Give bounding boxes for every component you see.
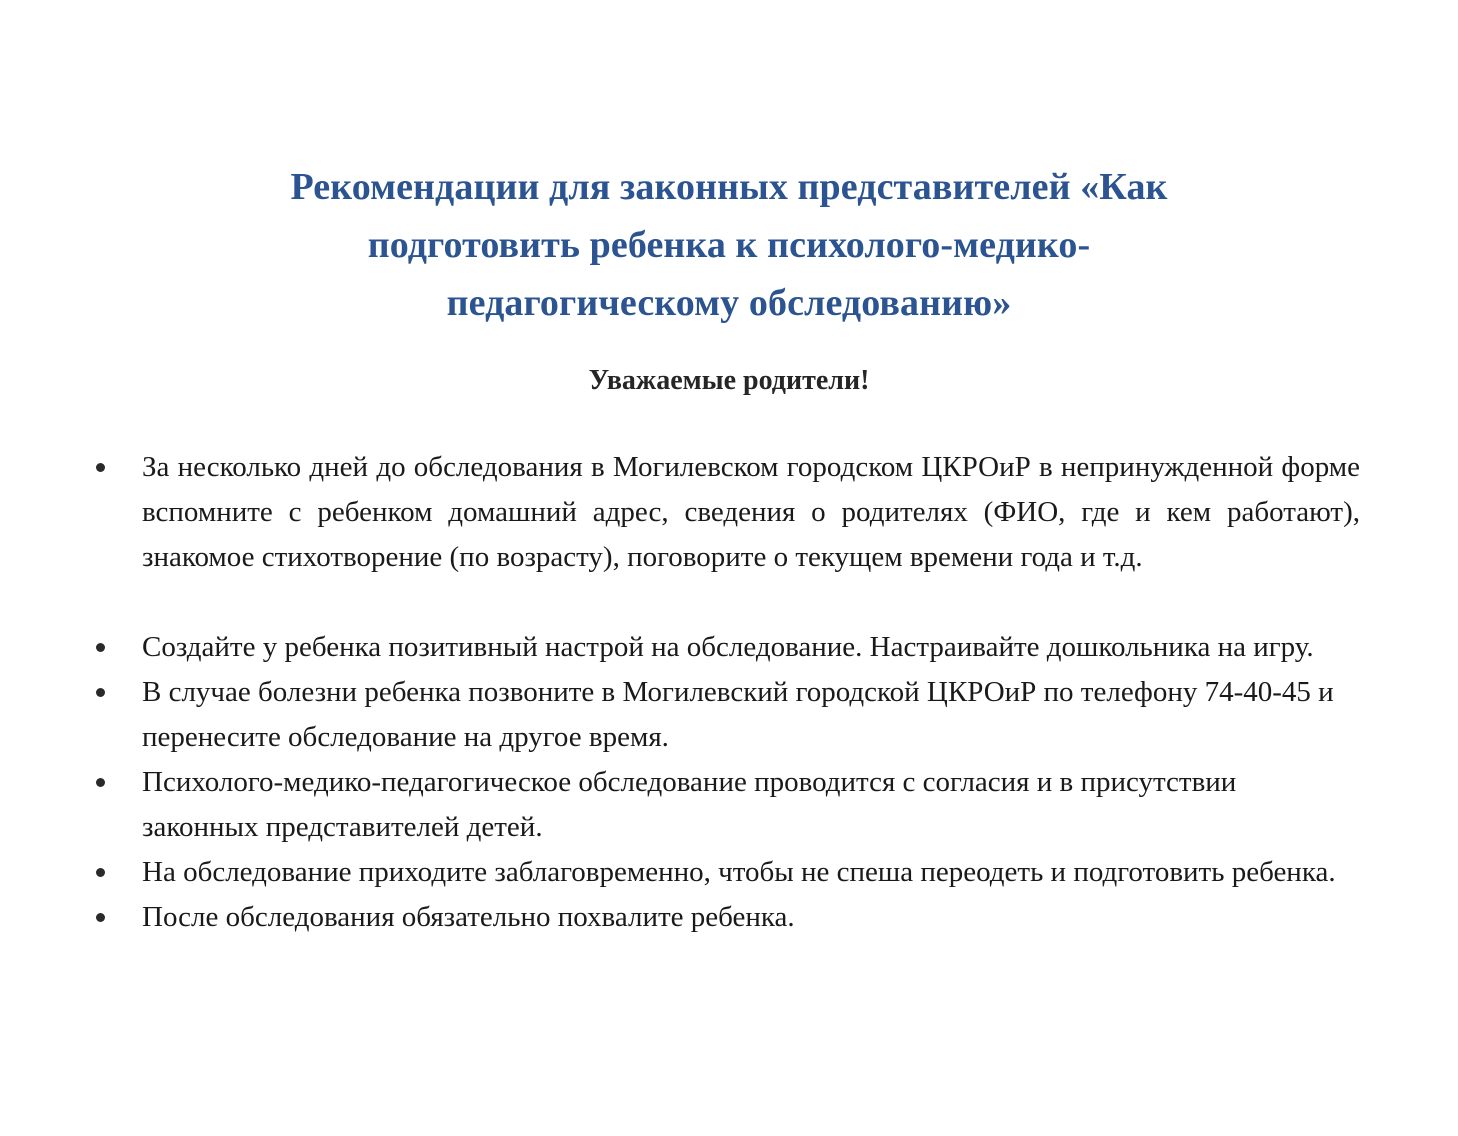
recommendations-list: За несколько дней до обследования в Моги… [90, 445, 1360, 940]
bullet-dot-icon [96, 778, 105, 787]
list-item-text: Психолого-медико-педагогическое обследов… [142, 760, 1360, 850]
list-item-text: Создайте у ребенка позитивный настрой на… [142, 625, 1360, 670]
bullet-dot-icon [96, 688, 105, 697]
bullet-dot-icon [96, 643, 105, 652]
bullet-dot-icon [96, 868, 105, 877]
list-item-text: В случае болезни ребенка позвоните в Мог… [142, 670, 1360, 760]
list-item: Создайте у ребенка позитивный настрой на… [90, 625, 1360, 670]
document-page: Рекомендации для законных представителей… [0, 0, 1458, 1136]
bullet-dot-icon [96, 463, 105, 472]
list-item: За несколько дней до обследования в Моги… [90, 445, 1360, 625]
list-item: Психолого-медико-педагогическое обследов… [90, 760, 1360, 850]
list-item-text: На обследование приходите заблаговременн… [142, 850, 1360, 895]
page-title: Рекомендации для законных представителей… [108, 158, 1350, 332]
bullet-dot-icon [96, 913, 105, 922]
document-subtitle: Уважаемые родители! [108, 363, 1350, 399]
list-item-text: За несколько дней до обследования в Моги… [142, 445, 1360, 580]
list-item: В случае болезни ребенка позвоните в Мог… [90, 670, 1360, 760]
list-item-text: После обследования обязательно похвалите… [142, 895, 1360, 940]
list-item: После обследования обязательно похвалите… [90, 895, 1360, 940]
list-item: На обследование приходите заблаговременн… [90, 850, 1360, 895]
